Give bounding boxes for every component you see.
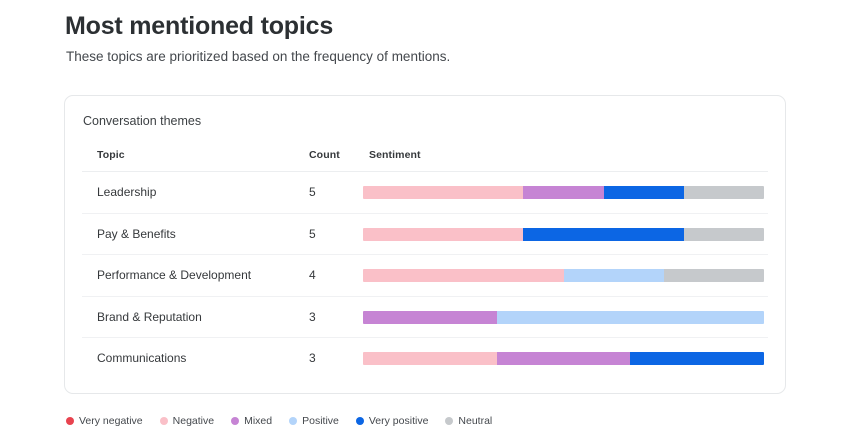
topics-table: Topic Count Sentiment Leadership5Pay & B… (65, 146, 785, 380)
topic-count: 4 (309, 268, 316, 282)
sentiment-bar (363, 186, 764, 199)
topic-label: Performance & Development (97, 268, 251, 282)
sentiment-segment-negative (363, 352, 497, 365)
column-header-sentiment: Sentiment (369, 149, 421, 161)
page-subtitle: These topics are prioritized based on th… (66, 48, 450, 66)
legend-dot-icon (445, 417, 453, 425)
legend-dot-icon (66, 417, 74, 425)
sentiment-bar (363, 311, 764, 324)
topic-count: 5 (309, 185, 316, 199)
legend-dot-icon (160, 417, 168, 425)
legend-item[interactable]: Very negative (66, 415, 143, 427)
topic-count: 3 (309, 351, 316, 365)
page-title: Most mentioned topics (65, 10, 333, 42)
sentiment-segment-mixed (497, 352, 631, 365)
table-row[interactable]: Pay & Benefits5 (82, 214, 768, 256)
table-row[interactable]: Performance & Development4 (82, 255, 768, 297)
card-title: Conversation themes (83, 113, 201, 129)
legend-item[interactable]: Neutral (445, 415, 492, 427)
sentiment-segment-positive (564, 269, 664, 282)
sentiment-segment-neutral (684, 228, 764, 241)
legend-dot-icon (356, 417, 364, 425)
sentiment-segment-very-positive (630, 352, 764, 365)
legend-label: Very positive (369, 415, 429, 427)
table-header-row: Topic Count Sentiment (82, 146, 768, 172)
legend-label: Neutral (458, 415, 492, 427)
sentiment-segment-very-positive (604, 186, 684, 199)
sentiment-segment-mixed (523, 186, 603, 199)
topic-count: 5 (309, 227, 316, 241)
table-row[interactable]: Leadership5 (82, 172, 768, 214)
table-row[interactable]: Communications3 (82, 338, 768, 380)
legend-dot-icon (231, 417, 239, 425)
topic-count: 3 (309, 310, 316, 324)
topic-label: Communications (97, 351, 186, 365)
topic-label: Leadership (97, 185, 156, 199)
sentiment-segment-neutral (684, 186, 764, 199)
legend-item[interactable]: Negative (160, 415, 214, 427)
legend-label: Positive (302, 415, 339, 427)
sentiment-segment-positive (497, 311, 764, 324)
sentiment-bar (363, 269, 764, 282)
legend-item[interactable]: Mixed (231, 415, 272, 427)
sentiment-bar (363, 228, 764, 241)
column-header-count: Count (309, 149, 340, 161)
sentiment-segment-very-positive (523, 228, 683, 241)
legend-label: Negative (173, 415, 214, 427)
topic-label: Brand & Reputation (97, 310, 202, 324)
sentiment-segment-neutral (664, 269, 764, 282)
column-header-topic: Topic (97, 149, 125, 161)
legend-label: Very negative (79, 415, 143, 427)
conversation-themes-card: Conversation themes Topic Count Sentimen… (64, 95, 786, 394)
sentiment-legend: Very negativeNegativeMixedPositiveVery p… (66, 415, 492, 427)
legend-item[interactable]: Positive (289, 415, 339, 427)
sentiment-segment-mixed (363, 311, 497, 324)
sentiment-segment-negative (363, 186, 523, 199)
sentiment-segment-negative (363, 228, 523, 241)
sentiment-segment-negative (363, 269, 564, 282)
legend-label: Mixed (244, 415, 272, 427)
topic-label: Pay & Benefits (97, 227, 176, 241)
legend-item[interactable]: Very positive (356, 415, 429, 427)
table-body: Leadership5Pay & Benefits5Performance & … (82, 172, 768, 380)
legend-dot-icon (289, 417, 297, 425)
table-row[interactable]: Brand & Reputation3 (82, 297, 768, 339)
sentiment-bar (363, 352, 764, 365)
